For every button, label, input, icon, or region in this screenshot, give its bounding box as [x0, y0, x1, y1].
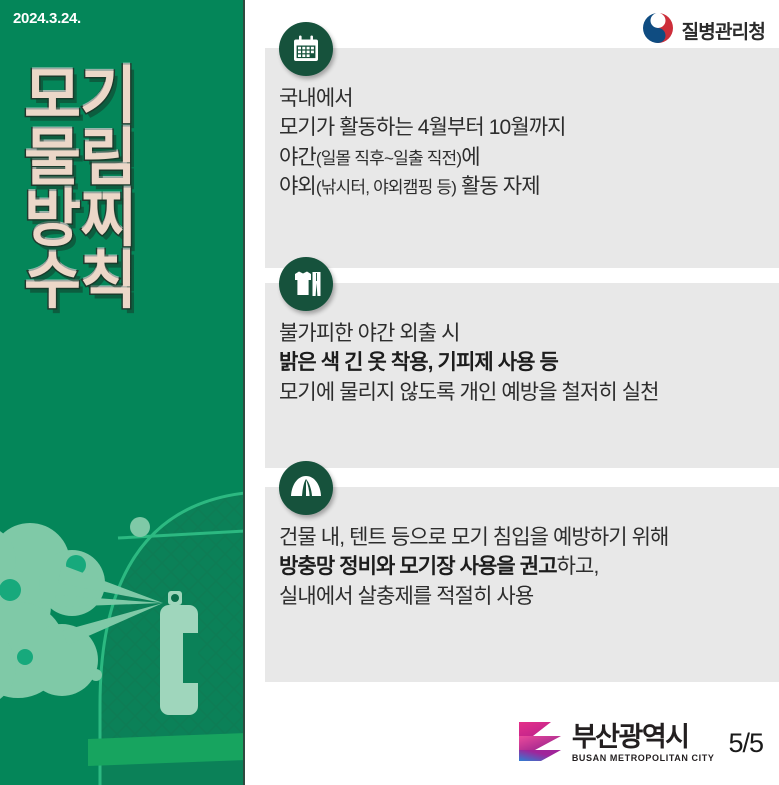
busan-name-ko: 부산광역시 [572, 724, 715, 751]
date-label: 2024.3.24. [13, 10, 81, 27]
footer: 부산광역시 BUSAN METROPOLITAN CITY 5/5 [517, 720, 763, 767]
busan-wordmark: 부산광역시 BUSAN METROPOLITAN CITY [572, 724, 715, 763]
title-line-4: 수칙 [24, 253, 224, 311]
kdca-logo: 질병관리청 [642, 12, 765, 49]
clothing-icon [279, 257, 333, 311]
busan-name-en: BUSAN METROPOLITAN CITY [572, 754, 715, 763]
block-1-line-1: 국내에서 [279, 84, 769, 113]
block-2-text: 불가피한 야간 외출 시밝은 색 긴 옷 착용, 기피제 사용 등모기에 물리지… [279, 319, 769, 407]
left-green-panel: 2024.3.24. [0, 0, 245, 785]
block-3-line-3: 실내에서 살충제를 적절히 사용 [279, 582, 769, 611]
busan-chevron-icon [517, 720, 563, 767]
block-2-line-2: 밝은 색 긴 옷 착용, 기피제 사용 등 [279, 348, 769, 377]
block-3-line-2: 방충망 정비와 모기장 사용을 권고하고, [279, 552, 769, 581]
info-block-3: 건물 내, 텐트 등으로 모기 침입을 예방하기 위해방충망 정비와 모기장 사… [265, 487, 779, 682]
spray-and-mosquito-net-illustration [0, 455, 245, 785]
block-1-text: 국내에서모기가 활동하는 4월부터 10월까지야간(일몰 직후~일출 직전)에야… [279, 84, 769, 202]
title-line-2: 물림 [24, 130, 224, 188]
calendar-icon [279, 22, 333, 76]
title-line-3: 방찌 [24, 191, 224, 249]
content-column: 질병관리청 [245, 0, 779, 785]
info-block-2: 불가피한 야간 외출 시밝은 색 긴 옷 착용, 기피제 사용 등모기에 물리지… [265, 283, 779, 468]
title-line-1: 모기 [24, 68, 224, 126]
block-1-line-4: 야외(낚시터, 야외캠핑 등) 활동 자제 [279, 172, 769, 201]
block-2-line-3: 모기에 물리지 않도록 개인 예방을 철저히 실천 [279, 378, 769, 407]
busan-logo: 부산광역시 BUSAN METROPOLITAN CITY [517, 720, 715, 767]
poster-root: 2024.3.24. [0, 0, 779, 785]
block-1-line-2: 모기가 활동하는 4월부터 10월까지 [279, 113, 769, 142]
tent-icon [279, 461, 333, 515]
poster-title: 모기 물림 방찌 수칙 [24, 68, 224, 315]
block-2-line-1: 불가피한 야간 외출 시 [279, 319, 769, 348]
block-1-line-3: 야간(일몰 직후~일출 직전)에 [279, 143, 769, 172]
block-3-text: 건물 내, 텐트 등으로 모기 침입을 예방하기 위해방충망 정비와 모기장 사… [279, 523, 769, 611]
kdca-name: 질병관리청 [682, 17, 765, 44]
page-indicator: 5/5 [728, 728, 763, 759]
taegeuk-icon [642, 12, 674, 49]
info-block-1: 국내에서모기가 활동하는 4월부터 10월까지야간(일몰 직후~일출 직전)에야… [265, 48, 779, 268]
block-3-line-1: 건물 내, 텐트 등으로 모기 침입을 예방하기 위해 [279, 523, 769, 552]
